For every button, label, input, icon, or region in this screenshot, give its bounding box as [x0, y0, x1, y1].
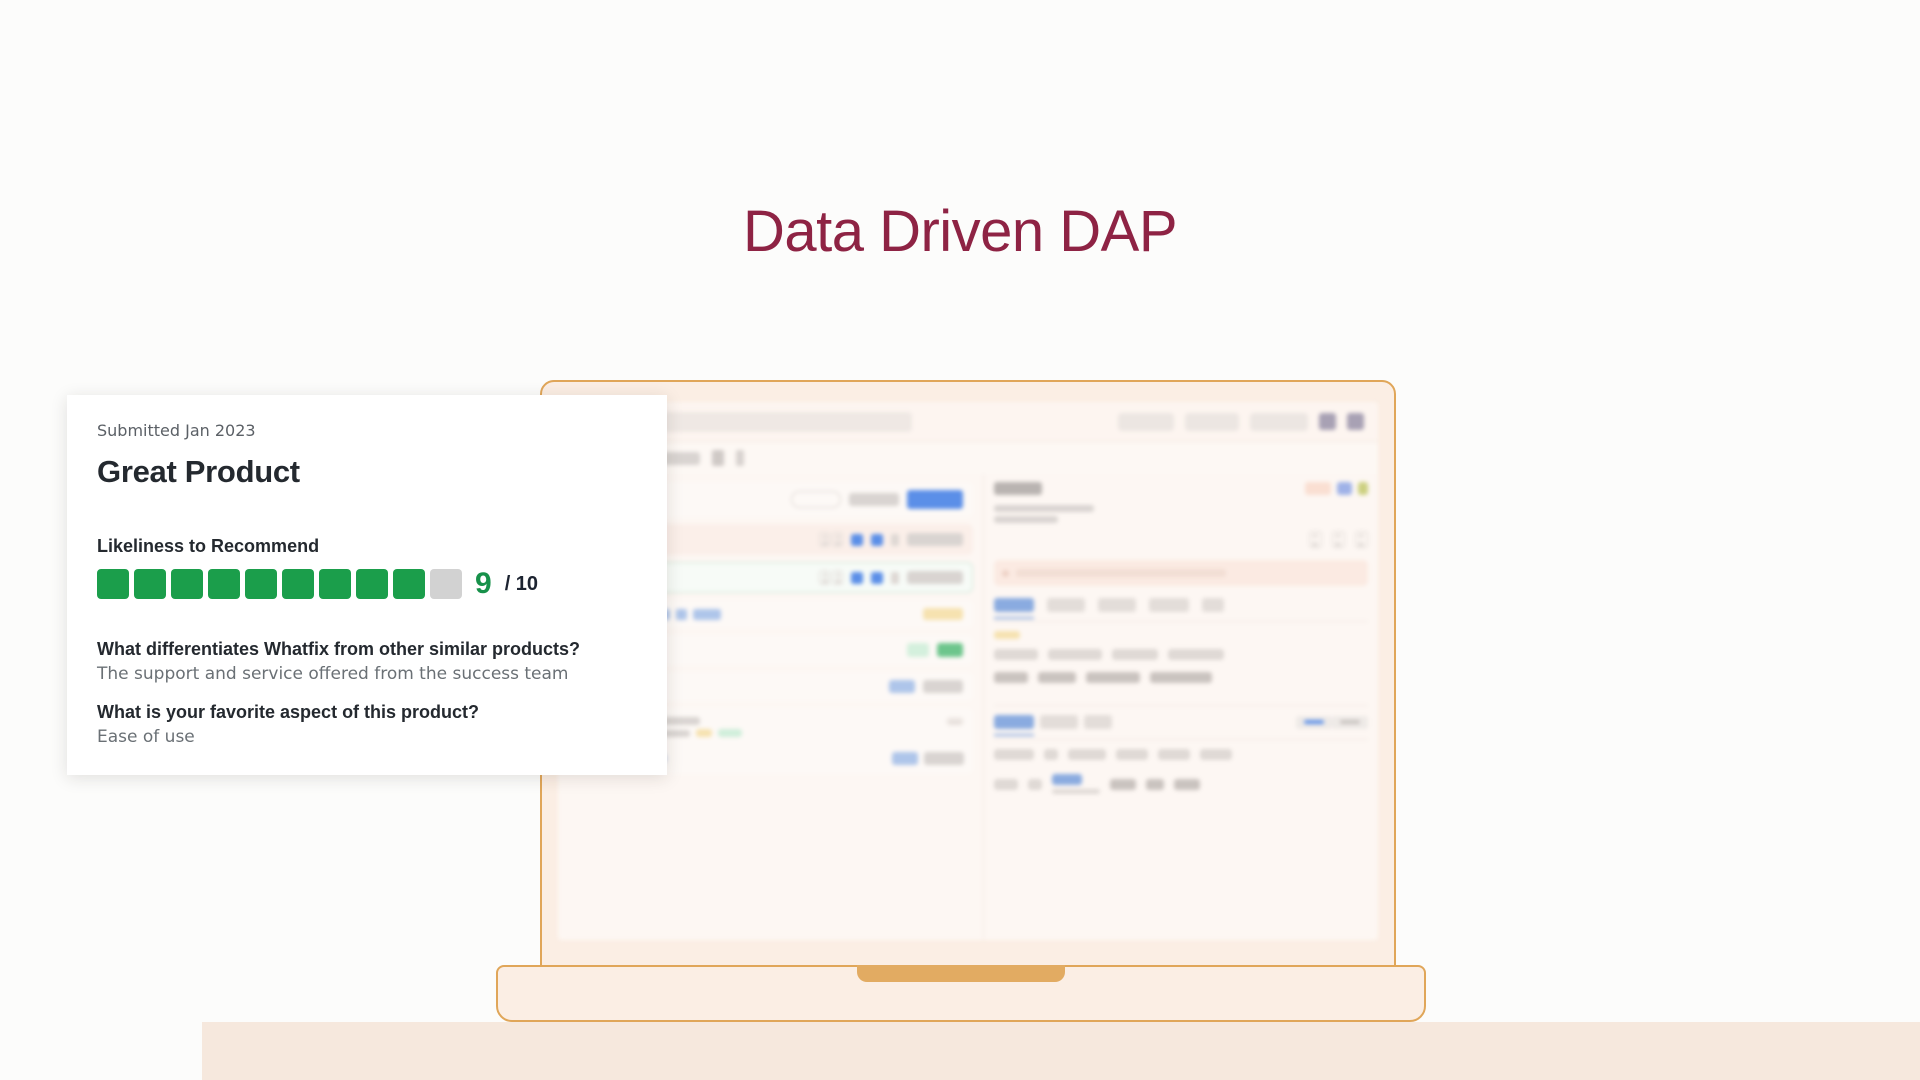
review-question: What is your favorite aspect of this pro… — [97, 702, 637, 723]
rating-segment-empty — [430, 569, 462, 599]
rating-segment-filled — [319, 569, 351, 599]
laptop-lid — [540, 380, 1396, 970]
mock-tab[interactable] — [736, 450, 744, 466]
rating-segment-filled — [245, 569, 277, 599]
table-row[interactable] — [994, 649, 1368, 660]
mock-tab[interactable] — [1202, 598, 1224, 612]
review-question-block: What differentiates Whatfix from other s… — [97, 639, 637, 684]
decorative-peach-band — [202, 1022, 1920, 1080]
table-row[interactable] — [994, 774, 1368, 794]
rating-segment-filled — [97, 569, 129, 599]
rating-segment-filled — [356, 569, 388, 599]
rating-segment-filled — [393, 569, 425, 599]
rating-segment-filled — [208, 569, 240, 599]
mock-tab[interactable] — [1047, 598, 1085, 612]
review-card: Submitted Jan 2023 Great Product Likelin… — [67, 395, 667, 775]
rating-segments — [97, 569, 462, 599]
mock-tab[interactable] — [1098, 598, 1136, 612]
user-avatar-icon — [819, 532, 843, 547]
review-answer: Ease of use — [97, 727, 637, 747]
table-row[interactable] — [994, 749, 1368, 760]
mock-tab[interactable] — [1149, 598, 1189, 612]
rating-row: 9 / 10 — [97, 569, 637, 599]
laptop-screen — [558, 402, 1378, 940]
mock-action-button[interactable] — [1185, 413, 1239, 431]
rating-segment-filled — [134, 569, 166, 599]
mock-topbar-actions — [1118, 413, 1364, 431]
review-question-block: What is your favorite aspect of this pro… — [97, 702, 637, 747]
rating-label: Likeliness to Recommend — [97, 536, 637, 557]
rating-segment-filled — [282, 569, 314, 599]
mock-table — [994, 649, 1368, 683]
mock-icon-button[interactable] — [1347, 413, 1364, 430]
mock-alert-banner — [994, 560, 1368, 586]
mock-action-button[interactable] — [1118, 413, 1174, 431]
review-answer: The support and service offered from the… — [97, 664, 637, 684]
table-row[interactable] — [994, 672, 1368, 683]
review-question: What differentiates Whatfix from other s… — [97, 639, 637, 660]
user-avatar-icon — [819, 570, 843, 585]
review-submitted-date: Submitted Jan 2023 — [97, 421, 637, 440]
review-title: Great Product — [97, 454, 637, 490]
mock-right-pane — [984, 474, 1378, 940]
page-title: Data Driven DAP — [0, 200, 1920, 264]
mock-tab[interactable] — [994, 598, 1034, 612]
mock-action-button[interactable] — [1250, 413, 1308, 431]
mock-tab-strip — [994, 598, 1368, 612]
screenshot-root: Data Driven DAP — [0, 0, 1920, 1080]
kebab-menu-icon[interactable] — [946, 717, 964, 726]
rating-segment-filled — [171, 569, 203, 599]
rating-score: 9 — [475, 569, 492, 599]
laptop-base-notch — [857, 965, 1065, 982]
mock-topbar — [558, 402, 1378, 442]
mock-icon-button[interactable] — [1319, 413, 1336, 430]
rating-denominator: / 10 — [505, 574, 538, 594]
mock-subbar — [558, 442, 1378, 474]
mock-tab[interactable] — [712, 450, 724, 466]
mock-panes — [558, 474, 1378, 940]
